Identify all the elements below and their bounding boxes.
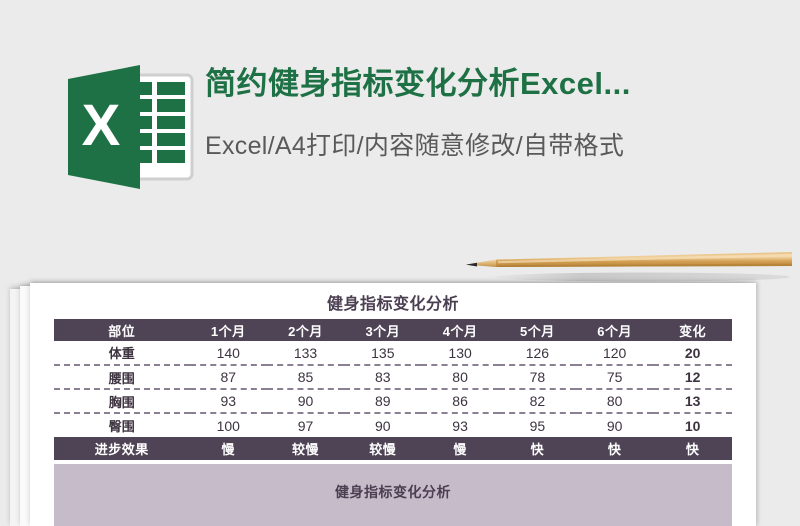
column-header-month-6: 6个月: [576, 319, 653, 341]
progress-row-label: 进步效果: [54, 437, 190, 460]
column-header-part: 部位: [54, 319, 190, 341]
cell-value: 80: [576, 389, 653, 413]
row-label: 腰围: [54, 365, 190, 389]
cell-value: 89: [344, 389, 421, 413]
column-header-month-4: 4个月: [421, 319, 498, 341]
column-header-month-2: 2个月: [267, 319, 344, 341]
progress-value: 较慢: [267, 437, 344, 460]
pencil-icon: [452, 246, 792, 284]
cell-value: 80: [421, 365, 498, 389]
table-row: 臀围 100 97 90 93 95 90 10: [54, 413, 732, 437]
column-header-month-3: 3个月: [344, 319, 421, 341]
title-block: 简约健身指标变化分析Excel... Excel/A4打印/内容随意修改/自带格…: [205, 62, 800, 166]
cell-change: 20: [653, 341, 732, 365]
cell-value: 93: [421, 413, 498, 437]
progress-value: 快: [576, 437, 653, 460]
cell-value: 93: [190, 389, 267, 413]
column-header-month-5: 5个月: [499, 319, 576, 341]
cell-value: 95: [499, 413, 576, 437]
cell-value: 87: [190, 365, 267, 389]
page-subtitle: Excel/A4打印/内容随意修改/自带格式: [205, 126, 800, 166]
progress-value: 快: [499, 437, 576, 460]
metrics-table: 部位 1个月 2个月 3个月 4个月 5个月 6个月 变化 体重 140 133…: [54, 319, 732, 460]
table-row: 腰围 87 85 83 80 78 75 12: [54, 365, 732, 389]
table-header-row: 部位 1个月 2个月 3个月 4个月 5个月 6个月 变化: [54, 319, 732, 341]
cell-value: 78: [499, 365, 576, 389]
column-header-month-1: 1个月: [190, 319, 267, 341]
progress-value: 慢: [421, 437, 498, 460]
cell-value: 97: [267, 413, 344, 437]
cell-value: 75: [576, 365, 653, 389]
spreadsheet: 健身指标变化分析 部位 1个月 2个月 3个月 4个月 5个月 6个月: [30, 283, 756, 526]
cell-value: 133: [267, 341, 344, 365]
progress-value: 快: [653, 437, 732, 460]
cell-value: 82: [499, 389, 576, 413]
chart-title: 健身指标变化分析: [335, 482, 451, 502]
column-header-change: 变化: [653, 319, 732, 341]
table-row: 胸围 93 90 89 86 82 80 13: [54, 389, 732, 413]
cell-value: 90: [576, 413, 653, 437]
cell-change: 10: [653, 413, 732, 437]
table-row: 体重 140 133 135 130 126 120 20: [54, 341, 732, 365]
cell-change: 12: [653, 365, 732, 389]
cell-value: 100: [190, 413, 267, 437]
row-label: 体重: [54, 341, 190, 365]
brand-header: X 简约健身指标变化分析Excel... Excel/A4打印/内容随意修改/自…: [60, 52, 760, 202]
chart-area: 健身指标变化分析: [54, 464, 732, 526]
row-label: 胸围: [54, 389, 190, 413]
cell-value: 140: [190, 341, 267, 365]
cell-value: 120: [576, 341, 653, 365]
progress-value: 慢: [190, 437, 267, 460]
document-stack: 健身指标变化分析 部位 1个月 2个月 3个月 4个月 5个月 6个月: [0, 283, 756, 526]
cell-change: 13: [653, 389, 732, 413]
cell-value: 85: [267, 365, 344, 389]
row-label: 臀围: [54, 413, 190, 437]
progress-value: 较慢: [344, 437, 421, 460]
cell-value: 130: [421, 341, 498, 365]
cell-value: 90: [344, 413, 421, 437]
cell-value: 83: [344, 365, 421, 389]
cell-value: 126: [499, 341, 576, 365]
cell-value: 90: [267, 389, 344, 413]
progress-effect-row: 进步效果 慢 较慢 较慢 慢 快 快 快: [54, 437, 732, 460]
svg-text:X: X: [82, 93, 121, 158]
cell-value: 135: [344, 341, 421, 365]
page-root: X 简约健身指标变化分析Excel... Excel/A4打印/内容随意修改/自…: [0, 0, 800, 526]
page-title: 简约健身指标变化分析Excel...: [205, 62, 800, 106]
spreadsheet-title: 健身指标变化分析: [54, 291, 732, 319]
cell-value: 86: [421, 389, 498, 413]
excel-logo-icon: X: [60, 57, 200, 197]
